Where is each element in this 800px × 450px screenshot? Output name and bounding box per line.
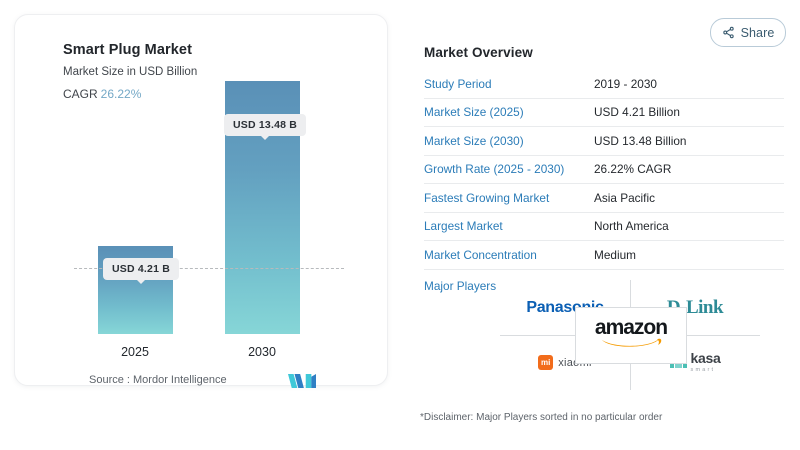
mordor-intelligence-logo xyxy=(288,373,316,389)
bar-label-2025: USD 4.21 B xyxy=(103,258,179,280)
amazon-wordmark: amazon xyxy=(595,318,667,338)
share-nodes-icon xyxy=(722,26,735,39)
row-label: Largest Market xyxy=(424,219,594,233)
row-label: Market Concentration xyxy=(424,248,594,262)
disclaimer-text: *Disclaimer: Major Players sorted in no … xyxy=(420,412,662,423)
bar-chart-plot: USD 4.21 B USD 13.48 B 2025 2030 Source … xyxy=(14,14,388,386)
kasa-wordmark: kasa smart xyxy=(691,351,721,374)
bar-label-2030: USD 13.48 B xyxy=(224,114,306,136)
share-button-label: Share xyxy=(741,26,775,40)
table-row: Study Period 2019 - 2030 xyxy=(424,70,784,99)
table-row: Market Concentration Medium xyxy=(424,241,784,270)
row-value: 26.22% CAGR xyxy=(594,162,671,176)
row-label: Growth Rate (2025 - 2030) xyxy=(424,162,594,176)
row-label: Study Period xyxy=(424,77,594,91)
table-row: Market Size (2025) USD 4.21 Billion xyxy=(424,99,784,128)
row-label: Fastest Growing Market xyxy=(424,191,594,205)
source-label: Source : Mordor Intelligence xyxy=(89,374,227,386)
row-value: Medium xyxy=(594,248,636,262)
market-overview-title: Market Overview xyxy=(424,45,784,60)
row-label: Market Size (2030) xyxy=(424,134,594,148)
kasa-word: kasa xyxy=(691,350,721,366)
table-row: Largest Market North America xyxy=(424,213,784,242)
xiaomi-mark-icon: mi xyxy=(538,355,553,370)
share-button[interactable]: Share xyxy=(710,18,786,47)
table-row: Growth Rate (2025 - 2030) 26.22% CAGR xyxy=(424,156,784,185)
logo-cell-amazon: amazon xyxy=(575,307,687,364)
row-value: USD 4.21 Billion xyxy=(594,105,680,119)
kasa-subword: smart xyxy=(691,368,721,374)
report-snapshot-page: Share Smart Plug Market Market Size in U… xyxy=(0,0,800,450)
row-label: Market Size (2025) xyxy=(424,105,594,119)
row-value: 2019 - 2030 xyxy=(594,77,657,91)
market-overview: Market Overview Study Period 2019 - 2030… xyxy=(424,45,784,293)
row-value: Asia Pacific xyxy=(594,191,655,205)
bars-area xyxy=(14,119,388,334)
row-value: USD 13.48 Billion xyxy=(594,134,686,148)
major-players-logos: Panasonic D-Link mi xiaomi kasa xyxy=(500,280,760,390)
table-row: Market Size (2030) USD 13.48 Billion xyxy=(424,127,784,156)
table-row: Fastest Growing Market Asia Pacific xyxy=(424,184,784,213)
row-value: North America xyxy=(594,219,669,233)
x-tick-2030: 2030 xyxy=(217,345,307,359)
amazon-swoosh-icon xyxy=(600,335,662,353)
x-tick-2025: 2025 xyxy=(90,345,180,359)
